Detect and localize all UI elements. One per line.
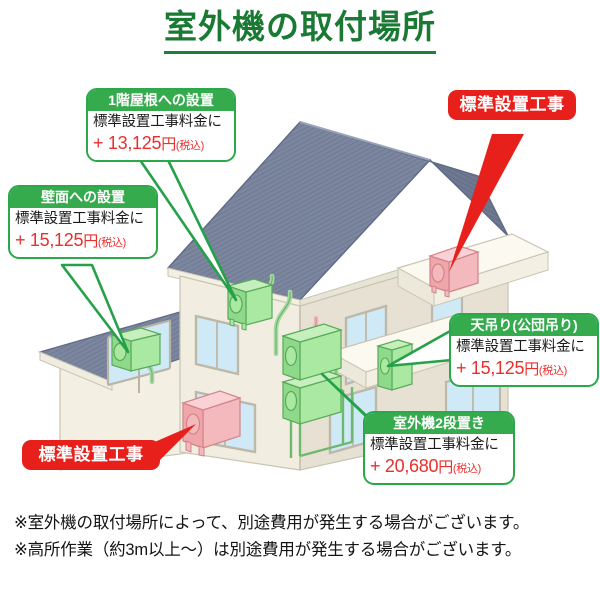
price-prefix: + [456, 358, 466, 378]
price-yen: 円 [83, 233, 98, 250]
badge-standard-top-right[interactable]: 標準設置工事 [448, 90, 576, 120]
callout-two-tier-body: 標準設置工事料金に + 20,680円(税込) [365, 434, 513, 483]
callout-roof-1f-line1: 標準設置工事料金に [93, 113, 229, 132]
price-value: 15,125 [471, 358, 524, 378]
price-tax: (税込) [176, 140, 204, 152]
footer-note-1: ※室外機の取付場所によって、別途費用が発生する場合がございます。 [14, 510, 594, 537]
footer-notes: ※室外機の取付場所によって、別途費用が発生する場合がございます。 ※高所作業（約… [14, 510, 594, 564]
callout-roof-1f-body: 標準設置工事料金に + 13,125円(税込) [88, 111, 234, 160]
price-yen: 円 [524, 361, 539, 378]
price-value: 20,680 [385, 456, 438, 476]
price-yen: 円 [438, 459, 453, 476]
callout-wall[interactable]: 壁面への設置 標準設置工事料金に + 15,125円(税込) [8, 185, 158, 259]
callout-ceiling-hang-price: + 15,125円(税込) [456, 357, 592, 382]
callout-wall-line1: 標準設置工事料金に [15, 210, 151, 229]
callout-ceiling-hang-header: 天吊り(公団吊り) [451, 315, 597, 336]
callout-ceiling-hang[interactable]: 天吊り(公団吊り) 標準設置工事料金に + 15,125円(税込) [449, 313, 599, 387]
price-tax: (税込) [453, 463, 481, 475]
callout-ceiling-hang-line1: 標準設置工事料金に [456, 338, 592, 357]
price-tax: (税込) [539, 365, 567, 377]
callout-two-tier-header: 室外機2段置き [365, 413, 513, 434]
callout-roof-1f[interactable]: 1階屋根への設置 標準設置工事料金に + 13,125円(税込) [86, 88, 236, 162]
poster-canvas: 室外機の取付場所 [0, 0, 600, 600]
price-prefix: + [93, 133, 103, 153]
callout-roof-1f-price: + 13,125円(税込) [93, 132, 229, 157]
callout-ceiling-hang-body: 標準設置工事料金に + 15,125円(税込) [451, 336, 597, 385]
price-tax: (税込) [98, 237, 126, 249]
callout-two-tier-price: + 20,680円(税込) [370, 455, 508, 480]
callout-two-tier-line1: 標準設置工事料金に [370, 436, 508, 455]
callout-wall-header: 壁面への設置 [10, 187, 156, 208]
callout-two-tier[interactable]: 室外機2段置き 標準設置工事料金に + 20,680円(税込) [363, 411, 515, 485]
price-value: 13,125 [108, 133, 161, 153]
price-prefix: + [15, 230, 25, 250]
price-prefix: + [370, 456, 380, 476]
badge-standard-bottom-left[interactable]: 標準設置工事 [22, 440, 160, 470]
callout-roof-1f-header: 1階屋根への設置 [88, 90, 234, 111]
price-value: 15,125 [30, 230, 83, 250]
footer-note-2: ※高所作業（約3m以上～）は別途費用が発生する場合がございます。 [14, 537, 594, 564]
price-yen: 円 [161, 136, 176, 153]
callout-wall-price: + 15,125円(税込) [15, 229, 151, 254]
callout-wall-body: 標準設置工事料金に + 15,125円(税込) [10, 208, 156, 257]
